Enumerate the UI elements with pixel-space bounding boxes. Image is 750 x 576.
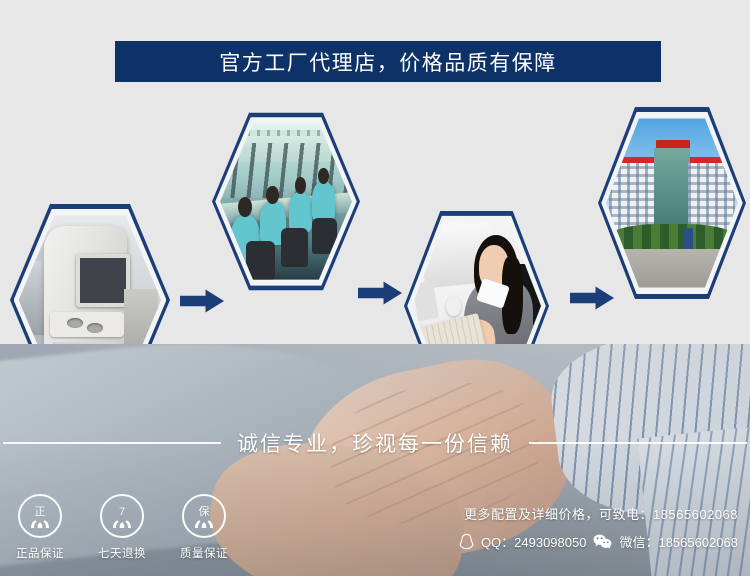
arrow-right-icon xyxy=(358,280,402,306)
guarantee-badges: 正 正品保证 7 七 xyxy=(8,494,236,561)
machine-knob-1 xyxy=(67,318,83,329)
tagline-row: 诚信专业，珍视每一份信赖 xyxy=(0,428,750,458)
process-flow xyxy=(0,95,750,325)
tagline-rule-left xyxy=(3,442,221,444)
process-step-4 xyxy=(598,103,746,303)
hexagon-frame-4 xyxy=(598,103,746,303)
factory-worker xyxy=(289,192,313,233)
factory-worker xyxy=(312,182,334,221)
badge-genuine[interactable]: 正 正品保证 xyxy=(8,494,72,561)
hands-seven-day-icon: 7 xyxy=(100,494,144,538)
machine-screen xyxy=(80,258,125,302)
hands-quality-icon: 保 xyxy=(182,494,226,538)
badge-glyph: 正 xyxy=(35,507,46,518)
hands-icon xyxy=(29,518,51,529)
contact-block: 更多配置及详细价格，可致电：18565602068 QQ：2493098050 xyxy=(459,504,738,551)
factory-chair xyxy=(246,241,275,280)
badge-seven-day-return[interactable]: 7 七天退换 xyxy=(90,494,154,561)
badge-label: 正品保证 xyxy=(8,545,72,561)
tagline-text: 诚信专业，珍视每一份信赖 xyxy=(221,428,529,458)
badge-label: 七天退换 xyxy=(90,545,154,561)
badge-quality[interactable]: 保 质量保证 xyxy=(172,494,236,561)
tagline-rule-right xyxy=(529,442,747,444)
contact-im-line: QQ：2493098050 微信：18565602068 xyxy=(459,532,738,551)
building-center-glass xyxy=(654,148,691,232)
badge-label: 质量保证 xyxy=(172,545,236,561)
wechat-number[interactable]: 微信：18565602068 xyxy=(619,532,738,551)
hexagon-frame-2 xyxy=(212,109,360,294)
factory-rail xyxy=(220,130,352,137)
promo-page: 官方工厂代理店，价格品质有保障 xyxy=(0,0,750,576)
wechat-icon xyxy=(593,534,612,549)
building-trees xyxy=(606,224,738,249)
process-arrow-2 xyxy=(358,280,402,306)
machine-monitor xyxy=(76,254,130,307)
hands-icon xyxy=(193,518,215,529)
header-banner: 官方工厂代理店，价格品质有保障 xyxy=(115,41,661,82)
contact-phone-line[interactable]: 更多配置及详细价格，可致电：18565602068 xyxy=(459,504,738,523)
badge-glyph: 保 xyxy=(199,507,210,518)
hands-icon xyxy=(111,518,133,529)
qq-penguin-icon xyxy=(459,533,474,550)
badge-glyph: 7 xyxy=(119,507,125,518)
banner-title: 官方工厂代理店，价格品质有保障 xyxy=(219,47,557,77)
handshake-banner: 诚信专业，珍视每一份信赖 正 正品保证 7 xyxy=(0,344,750,576)
hands-shield-icon: 正 xyxy=(18,494,62,538)
factory-chair xyxy=(281,228,309,267)
process-step-2 xyxy=(212,109,360,294)
qq-number[interactable]: QQ：2493098050 xyxy=(481,532,587,551)
office-mouse xyxy=(446,296,461,317)
